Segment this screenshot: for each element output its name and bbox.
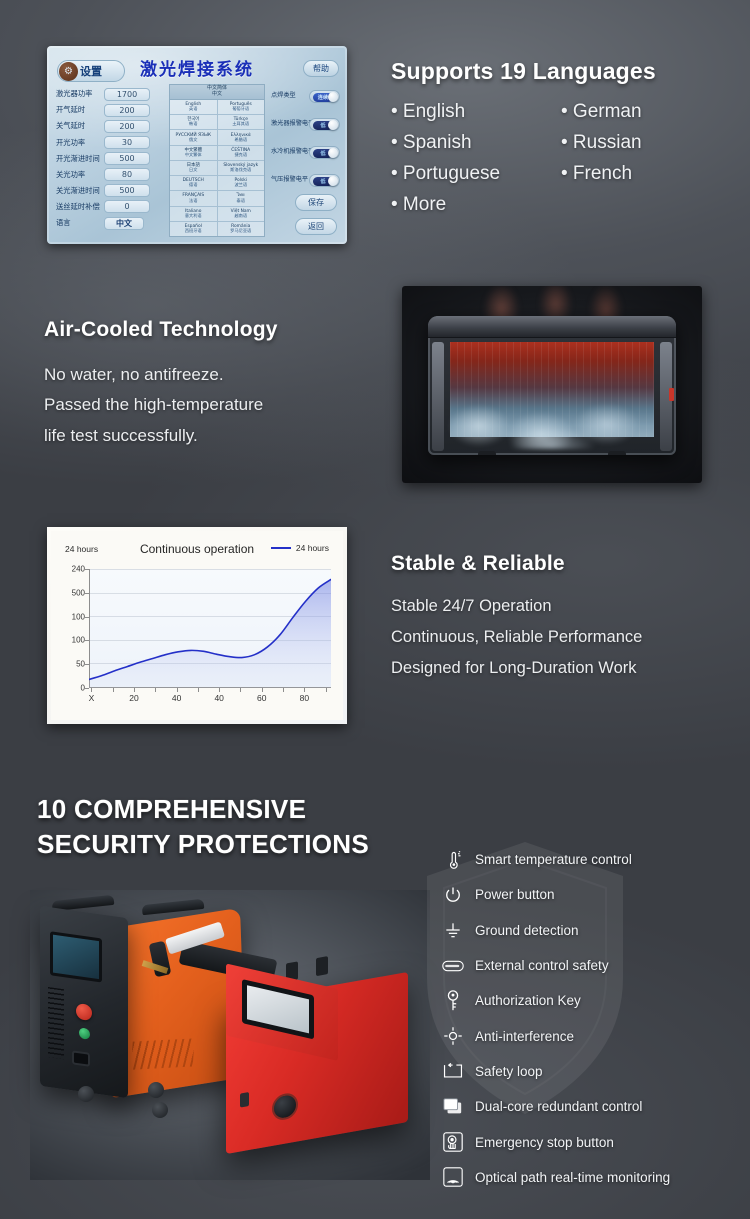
parameter-row: 关气延时200: [56, 119, 166, 134]
chart-x-tick-mark: [262, 688, 263, 692]
aircooled-line: No water, no antifreeze.: [44, 360, 374, 390]
security-protection-label: Safety loop: [475, 1064, 543, 1079]
stable-line: Continuous, Reliable Performance: [391, 622, 741, 653]
language-option[interactable]: DEUTSCH德语: [170, 176, 218, 190]
orange-machine-vent: [131, 1038, 195, 1069]
language-header-line2: 中文: [212, 92, 222, 98]
language-chinese: 捷克语: [234, 153, 247, 158]
black-unit-port: [72, 1050, 90, 1067]
parameter-label: 激光器功率: [56, 89, 104, 99]
parameter-value-field[interactable]: 30: [104, 136, 150, 149]
chamber-lid: [428, 316, 676, 338]
back-button[interactable]: 返回: [295, 218, 337, 235]
chart-y-tick-label: 100: [72, 612, 85, 621]
chamber-post-left: [432, 342, 444, 451]
chamber-case: [428, 316, 676, 455]
crosshair-icon: [440, 1024, 466, 1048]
security-protection-item: Safety loop: [440, 1054, 745, 1089]
parameter-list: 激光器功率1700开气延时200关气延时200开光功率30开光渐进时间500关光…: [56, 87, 166, 232]
languages-column-left: • English• Spanish• Portuguese• More: [391, 101, 561, 225]
toggle-switch[interactable]: 低: [309, 118, 340, 131]
languages-title: Supports 19 Languages: [391, 58, 741, 85]
loop-icon: [440, 1059, 466, 1083]
language-chinese: 俄文: [189, 138, 197, 143]
chart-x-tick-mark: [304, 688, 305, 692]
parameter-label: 语言: [56, 218, 104, 228]
stable-title: Stable & Reliable: [391, 552, 741, 576]
alarm-toggle-row: 水冷机报警电平低: [271, 144, 343, 161]
language-chinese: 斯洛伐克语: [230, 168, 251, 173]
language-table[interactable]: 中文简体 中文 English英语Português葡萄牙语한국어韩语Türkç…: [169, 84, 265, 237]
chart-x-tick-mark: [283, 688, 284, 692]
parameter-label: 关光功率: [56, 170, 104, 180]
languages-text-block: Supports 19 Languages • English• Spanish…: [391, 58, 741, 225]
security-protection-label: Power button: [475, 887, 555, 902]
toggle-knob: [328, 120, 338, 130]
security-protection-item: Anti-interference: [440, 1018, 745, 1053]
language-option[interactable]: 한국어韩语: [170, 115, 218, 129]
chamber-foot-left: [478, 451, 496, 455]
chart-y-tick-label: 100: [72, 636, 85, 645]
security-protection-item: Authorization Key: [440, 983, 745, 1018]
parameter-row: 开光功率30: [56, 135, 166, 150]
chart-x-tick-mark: [134, 688, 135, 692]
security-protection-label: Anti-interference: [475, 1029, 574, 1044]
chart-y-tick-label: 500: [72, 588, 85, 597]
language-row: РУССКИЙ ЯЗЫК俄文Ελληνικά希腊语: [170, 130, 264, 145]
chart-y-tick-mark: [85, 617, 89, 618]
alarm-toggle-list: 点焊类型连续激光器报警电平低水冷机报警电平低气压报警电平低: [271, 88, 343, 200]
language-option[interactable]: Español西班牙语: [170, 222, 218, 236]
alarm-toggle-row: 点焊类型连续: [271, 88, 343, 105]
security-protection-item: Smart temperature control: [440, 842, 745, 877]
language-chinese: 罗马尼亚语: [230, 229, 251, 234]
chart-x-tick-mark: [240, 688, 241, 692]
chamber-foot-right: [608, 451, 626, 455]
chart-y-tick-mark: [85, 664, 89, 665]
chart-x-tick-mark: [177, 688, 178, 692]
legend-label: 24 hours: [296, 543, 329, 553]
toggle-knob: [328, 92, 338, 102]
parameter-row: 开气延时200: [56, 103, 166, 118]
help-button[interactable]: 帮助: [303, 60, 339, 77]
toggle-label: 激光器报警电平: [271, 121, 309, 128]
toggle-knob: [328, 176, 338, 186]
language-row: Español西班牙语România罗马尼亚语: [170, 222, 264, 236]
language-chinese: 法语: [189, 199, 197, 204]
language-bullet: • More: [391, 194, 561, 216]
language-chinese: 希腊语: [234, 138, 247, 143]
black-unit-touchscreen: [50, 931, 102, 982]
chart-x-tick-label: 80: [300, 693, 309, 703]
security-protection-label: Emergency stop button: [475, 1135, 614, 1150]
language-row: FRANÇAIS法语ไทย泰语: [170, 191, 264, 206]
hmi-control-panel-screenshot: ⚙ 设置 激光焊接系统 帮助 激光器功率1700开气延时200关气延时200开光…: [47, 46, 347, 244]
parameter-row: 激光器功率1700: [56, 87, 166, 102]
parameter-label: 关气延时: [56, 121, 104, 131]
parameter-value-field[interactable]: 80: [104, 168, 150, 181]
parameter-label: 关光渐进时间: [56, 186, 104, 196]
parameter-value-field[interactable]: 500: [104, 184, 150, 197]
welding-gun: [148, 930, 238, 978]
ground-icon: [440, 918, 466, 942]
parameter-row: 开光渐进时间500: [56, 151, 166, 166]
toggle-knob: [328, 148, 338, 158]
language-chinese: 西班牙语: [185, 229, 202, 234]
parameter-row: 关光功率80: [56, 167, 166, 182]
language-chinese: 英语: [189, 107, 197, 112]
external-control-icon: [440, 954, 466, 978]
save-button[interactable]: 保存: [295, 194, 337, 211]
chart-plot-area: 050100100500240 X2040406080: [89, 569, 331, 688]
language-option[interactable]: 中文繁體中文繁体: [170, 146, 218, 160]
black-control-unit: [40, 906, 128, 1098]
toggle-switch[interactable]: 低: [309, 146, 340, 159]
security-protection-item: Emergency stop button: [440, 1124, 745, 1159]
stable-text-block: Stable & Reliable Stable 24/7 OperationC…: [391, 552, 741, 684]
language-row: 日本語日文Slovenský jazyk斯洛伐克语: [170, 161, 264, 176]
security-protection-label: Authorization Key: [475, 993, 581, 1008]
green-start-button: [79, 1027, 90, 1040]
chamber-indicator: [669, 388, 674, 401]
language-option[interactable]: ไทย泰语: [218, 191, 265, 205]
language-chinese: 日文: [189, 168, 197, 173]
toggle-switch[interactable]: 连续: [309, 90, 340, 103]
aircooled-body: No water, no antifreeze.Passed the high-…: [44, 360, 374, 451]
chart-y-tick-label: 240: [72, 565, 85, 574]
language-row: 中文繁體中文繁体ČEŠTINA捷克语: [170, 146, 264, 161]
language-bullet: • English: [391, 101, 561, 123]
language-row: English英语Português葡萄牙语: [170, 100, 264, 115]
power-icon: [440, 883, 466, 907]
language-option[interactable]: Türkçe土耳其语: [218, 115, 265, 129]
parameter-value-field[interactable]: 200: [104, 104, 150, 117]
chart-x-tick-mark: [219, 688, 220, 692]
security-protection-item: Optical path real-time monitoring: [440, 1160, 745, 1195]
alarm-toggle-row: 激光器报警电平低: [271, 116, 343, 133]
chart-x-tick-label: 40: [214, 693, 223, 703]
chart-x-tick-label: 40: [172, 693, 181, 703]
caster-wheel: [78, 1086, 94, 1102]
security-protections-list: Smart temperature controlPower buttonGro…: [440, 842, 745, 1195]
chart-x-tick-mark: [326, 688, 327, 692]
chart-y-tick-mark: [85, 569, 89, 570]
language-option[interactable]: Slovenský jazyk斯洛伐克语: [218, 161, 265, 175]
security-protection-item: Dual-core redundant control: [440, 1089, 745, 1124]
parameter-value-field[interactable]: 0: [104, 200, 150, 213]
stable-body: Stable 24/7 OperationContinuous, Reliabl…: [391, 591, 741, 684]
chart-series-svg: [89, 569, 331, 688]
red-machine-touchscreen: [242, 979, 314, 1039]
toggle-label: 气压报警电平: [271, 177, 309, 184]
language-option[interactable]: 日本語日文: [170, 161, 218, 175]
parameter-value-field[interactable]: 1700: [104, 88, 150, 101]
continuous-operation-chart: 24 hours Continuous operation 24 hours: [47, 527, 347, 724]
chart-x-tick-mark: [198, 688, 199, 692]
language-bullet: • German: [561, 101, 731, 123]
key-icon: [440, 989, 466, 1013]
security-protection-item: External control safety: [440, 948, 745, 983]
security-heading-line2: SECURITY PROTECTIONS: [37, 827, 437, 862]
language-option[interactable]: Polski波兰语: [218, 176, 265, 190]
caster-wheel: [148, 1082, 164, 1098]
parameter-row: 送丝延时补偿0: [56, 200, 166, 215]
security-heading: 10 COMPREHENSIVE SECURITY PROTECTIONS: [37, 792, 437, 861]
language-chinese: 越南语: [234, 214, 247, 219]
chart-x-tick-label: 60: [257, 693, 266, 703]
language-chinese: 葡萄牙语: [232, 107, 249, 112]
language-bullet: • Spanish: [391, 132, 561, 154]
chart-legend: 24 hours: [271, 543, 329, 553]
red-machine-switch: [240, 1092, 249, 1108]
parameter-row: 语言中文: [56, 216, 166, 231]
language-chinese: 土耳其语: [232, 122, 249, 127]
language-chinese: 德语: [189, 183, 197, 188]
security-heading-line1: 10 COMPREHENSIVE: [37, 792, 437, 827]
chart-x-tick-mark: [155, 688, 156, 692]
security-protection-label: Smart temperature control: [475, 852, 632, 867]
toggle-label: 点焊类型: [271, 93, 309, 100]
emergency-stop-knob: [76, 1003, 92, 1021]
chart-x-tick-mark: [113, 688, 114, 692]
language-option[interactable]: ČEŠTINA捷克语: [218, 146, 265, 160]
languages-column-right: • German• Russian• French: [561, 101, 731, 225]
hmi-title: 激光焊接系统: [47, 55, 347, 80]
chart-y-tick-mark: [85, 688, 89, 689]
language-table-header: 中文简体 中文: [170, 85, 264, 100]
language-option[interactable]: English英语: [170, 100, 218, 114]
chart-x-tick-label: 20: [129, 693, 138, 703]
red-machine: [226, 972, 408, 1154]
language-option[interactable]: Việt Nam越南语: [218, 207, 265, 221]
red-machine-connector: [272, 1091, 298, 1122]
aircooled-line: life test successfully.: [44, 421, 374, 451]
language-option[interactable]: Italiano意大利语: [170, 207, 218, 221]
chart-y-tick-label: 50: [76, 660, 85, 669]
cooling-mist: [438, 366, 666, 449]
laser-welding-machines-photo: [30, 890, 430, 1180]
toggle-switch[interactable]: 低: [309, 174, 340, 187]
language-option[interactable]: România罗马尼亚语: [218, 222, 265, 236]
security-protection-label: External control safety: [475, 958, 609, 973]
chart-y-tick-mark: [85, 640, 89, 641]
caster-wheel: [152, 1102, 168, 1118]
language-chinese: 泰语: [237, 199, 245, 204]
alarm-toggle-row: 气压报警电平低: [271, 172, 343, 189]
thermometer-icon: [440, 848, 466, 872]
aircooled-title: Air-Cooled Technology: [44, 318, 374, 342]
security-protection-item: Power button: [440, 877, 745, 912]
language-row: Italiano意大利语Việt Nam越南语: [170, 207, 264, 222]
toggle-label: 水冷机报警电平: [271, 149, 309, 156]
aircooled-text-block: Air-Cooled Technology No water, no antif…: [44, 318, 374, 451]
black-unit-grille: [48, 987, 64, 1059]
language-bullet: • Portuguese: [391, 163, 561, 185]
parameter-label: 开光功率: [56, 138, 104, 148]
chart-y-tick-mark: [85, 593, 89, 594]
language-chinese: 波兰语: [234, 183, 247, 188]
language-option[interactable]: Português葡萄牙语: [218, 100, 265, 114]
parameter-label: 开气延时: [56, 105, 104, 115]
chart-x-tick-mark: [91, 688, 92, 692]
language-bullet: • French: [561, 163, 731, 185]
language-option[interactable]: FRANÇAIS法语: [170, 191, 218, 205]
parameter-label: 开光渐进时间: [56, 154, 104, 164]
language-row: DEUTSCH德语Polski波兰语: [170, 176, 264, 191]
language-chinese: 韩语: [189, 122, 197, 127]
language-option[interactable]: РУССКИЙ ЯЗЫК俄文: [170, 130, 218, 144]
security-protection-item: Ground detection: [440, 913, 745, 948]
dual-window-icon: [440, 1095, 466, 1119]
parameter-value-field[interactable]: 200: [104, 120, 150, 133]
parameter-value-field[interactable]: 500: [104, 152, 150, 165]
language-row: 한국어韩语Türkçe土耳其语: [170, 115, 264, 130]
language-option[interactable]: Ελληνικά希腊语: [218, 130, 265, 144]
emergency-stop-icon: [440, 1130, 466, 1154]
language-chinese: 中文繁体: [185, 153, 202, 158]
optical-path-icon: [440, 1165, 466, 1189]
legend-line-swatch: [271, 547, 291, 550]
security-protection-label: Optical path real-time monitoring: [475, 1170, 670, 1185]
chart-x-tick-label: X: [89, 693, 95, 703]
security-protection-label: Ground detection: [475, 923, 579, 938]
stable-line: Designed for Long-Duration Work: [391, 653, 741, 684]
high-temperature-test-chamber-photo: [402, 286, 702, 483]
language-chinese: 意大利语: [185, 214, 202, 219]
aircooled-line: Passed the high-temperature: [44, 390, 374, 420]
language-bullet: • Russian: [561, 132, 731, 154]
parameter-value-field[interactable]: 中文: [104, 217, 144, 230]
parameter-row: 关光渐进时间500: [56, 184, 166, 199]
stable-line: Stable 24/7 Operation: [391, 591, 741, 622]
product-infographic-page: ⚙ 设置 激光焊接系统 帮助 激光器功率1700开气延时200关气延时200开光…: [0, 0, 750, 1219]
security-protection-label: Dual-core redundant control: [475, 1099, 642, 1114]
parameter-label: 送丝延时补偿: [56, 202, 104, 212]
